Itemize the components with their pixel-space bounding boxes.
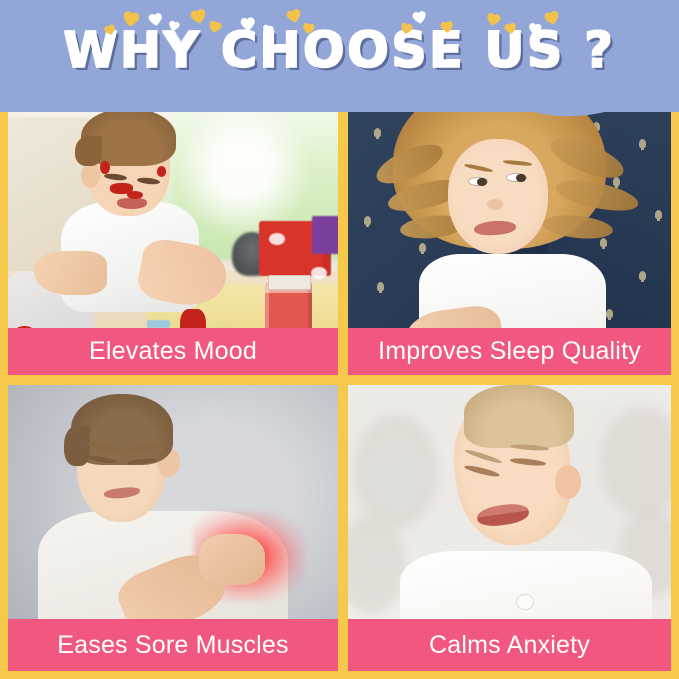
benefit-card-calms-anxiety[interactable]: Calms Anxiety bbox=[348, 385, 671, 671]
why-choose-us-poster: Elevates Mood bbox=[0, 0, 679, 679]
benefit-label-bar: Improves Sleep Quality bbox=[348, 328, 671, 375]
benefit-label-bar: Elevates Mood bbox=[8, 328, 338, 375]
poster-header: WHY CHOOSE US ? bbox=[0, 0, 679, 112]
benefit-card-elevates-mood[interactable]: Elevates Mood bbox=[8, 100, 338, 375]
frame-line-top-left bbox=[0, 100, 8, 679]
benefit-card-improves-sleep-quality[interactable]: Improves Sleep Quality bbox=[348, 100, 671, 375]
frame-line-vertical bbox=[338, 100, 348, 679]
benefit-label-bar: Eases Sore Muscles bbox=[8, 619, 338, 671]
benefit-label-text: Improves Sleep Quality bbox=[378, 337, 641, 366]
page-title: WHY CHOOSE US ? bbox=[0, 22, 679, 79]
benefit-label-text: Calms Anxiety bbox=[429, 631, 590, 660]
benefit-label-bar: Calms Anxiety bbox=[348, 619, 671, 671]
benefit-label-text: Elevates Mood bbox=[89, 337, 257, 366]
frame-line-horizontal bbox=[0, 375, 679, 385]
benefit-label-text: Eases Sore Muscles bbox=[57, 631, 288, 660]
frame-line-right bbox=[671, 100, 679, 679]
benefit-card-eases-sore-muscles[interactable]: Eases Sore Muscles bbox=[8, 385, 338, 671]
